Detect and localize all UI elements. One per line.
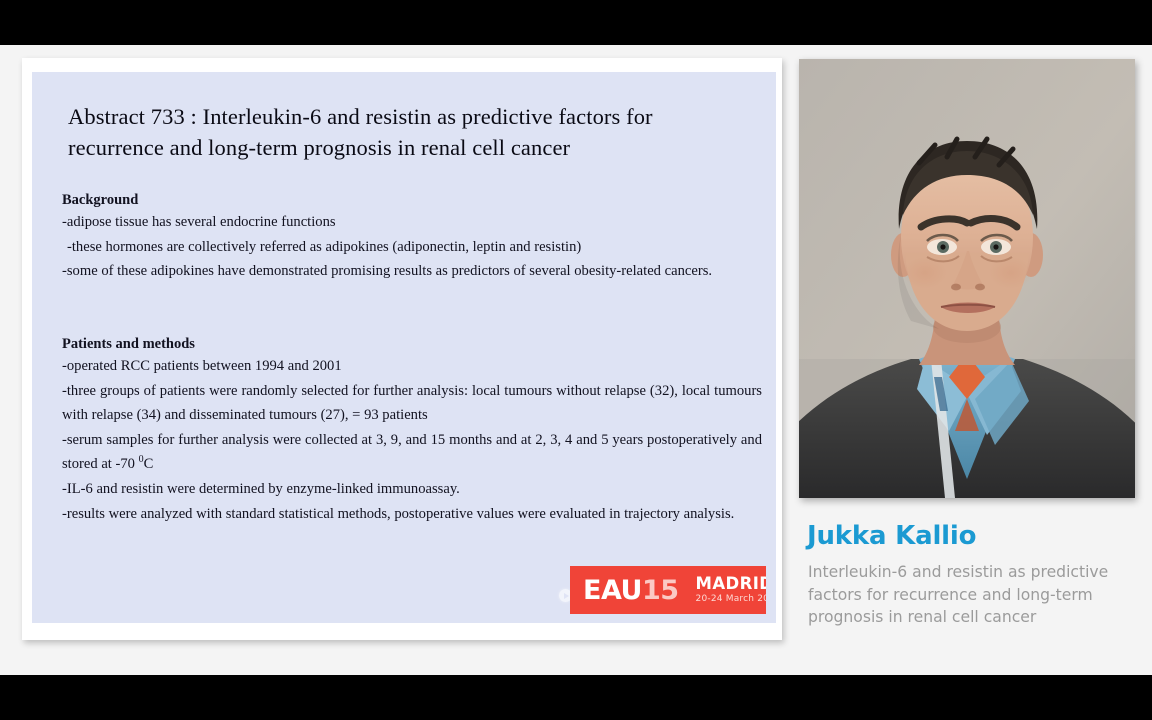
speaker-panel: Jukka Kallio Interleukin-6 and resistin … (799, 59, 1135, 629)
eau-logo-year: 15 (642, 575, 679, 606)
eau-logo-brand: EAU (583, 575, 642, 606)
section-heading: Background (62, 190, 762, 210)
letterbox-bar-top (0, 0, 1152, 45)
eau-logo-venue: MADRID 20-24 March 2015 (696, 576, 766, 605)
eau-logo-city: MADRID (696, 576, 766, 593)
section-bullet: -some of these adipokines have demonstra… (62, 259, 762, 284)
speaker-photo (799, 59, 1135, 498)
speaker-name: Jukka Kallio (799, 521, 1135, 551)
section-bullet: -serum samples for further analysis were… (62, 428, 762, 477)
video-slide-viewer: Abstract 733 : Interleukin-6 and resisti… (0, 0, 1152, 720)
section-bullet: -these hormones are collectively referre… (62, 235, 762, 260)
section-heading: Patients and methods (62, 334, 762, 354)
speaker-talk-title: Interleukin-6 and resistin as predictive… (799, 561, 1120, 629)
eau-logo-wordmark: EAU15 (570, 577, 679, 604)
slide-section-patients-and-methods: Patients and methods -operated RCC patie… (62, 334, 762, 526)
eau-logo-dates: 20-24 March 2015 (696, 595, 766, 604)
slide-surface: Abstract 733 : Interleukin-6 and resisti… (32, 72, 776, 623)
speaker-photo-frame (799, 59, 1135, 498)
letterbox-bar-bottom (0, 675, 1152, 720)
section-bullet: -adipose tissue has several endocrine fu… (62, 210, 762, 235)
section-bullet: -operated RCC patients between 1994 and … (62, 354, 762, 379)
slide-card[interactable]: Abstract 733 : Interleukin-6 and resisti… (22, 58, 782, 640)
section-bullet: -IL-6 and resistin were determined by en… (62, 477, 762, 502)
eau-congress-logo: EAU15 MADRID 20-24 March 2015 (570, 566, 766, 614)
section-bullet: -three groups of patients were randomly … (62, 379, 762, 428)
slide-section-background: Background -adipose tissue has several e… (62, 190, 762, 284)
presentation-stage: Abstract 733 : Interleukin-6 and resisti… (0, 45, 1152, 675)
section-bullet: -results were analyzed with standard sta… (62, 502, 762, 527)
slide-title: Abstract 733 : Interleukin-6 and resisti… (68, 101, 748, 163)
